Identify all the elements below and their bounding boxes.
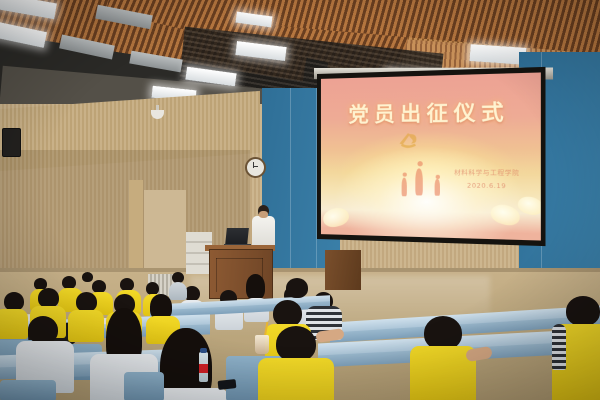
wall-speaker-icon	[2, 128, 21, 157]
smartphone	[218, 379, 237, 390]
bottle-cap	[200, 348, 207, 353]
presenter-face	[259, 211, 268, 218]
party-emblem-icon	[393, 129, 425, 152]
chair-back	[0, 380, 56, 400]
presenter-laptop	[225, 228, 249, 245]
wall-column-left	[129, 180, 143, 280]
drink-cup	[255, 335, 269, 354]
slide-title: 党员出征仪式	[321, 94, 541, 128]
dove-left-icon	[321, 205, 351, 229]
wall-clock	[245, 157, 266, 178]
bottle-label	[199, 364, 208, 373]
lecture-hall-photo: 党员出征仪式 材料科学与工程学院 2020.6.19	[0, 0, 600, 400]
chair-back	[124, 372, 164, 400]
wall-column-mid	[144, 190, 186, 278]
projected-slide: 党员出征仪式 材料科学与工程学院 2020.6.19	[321, 72, 541, 240]
side-door	[325, 250, 361, 290]
slide-subtitle: 材料科学与工程学院 2020.6.19	[454, 168, 519, 193]
slide-subtitle-org: 材料科学与工程学院	[454, 168, 519, 181]
slide-subtitle-date: 2020.6.19	[454, 180, 519, 193]
presenter-torso	[252, 216, 275, 248]
projection-screen: 党员出征仪式 材料科学与工程学院 2020.6.19	[317, 67, 546, 246]
